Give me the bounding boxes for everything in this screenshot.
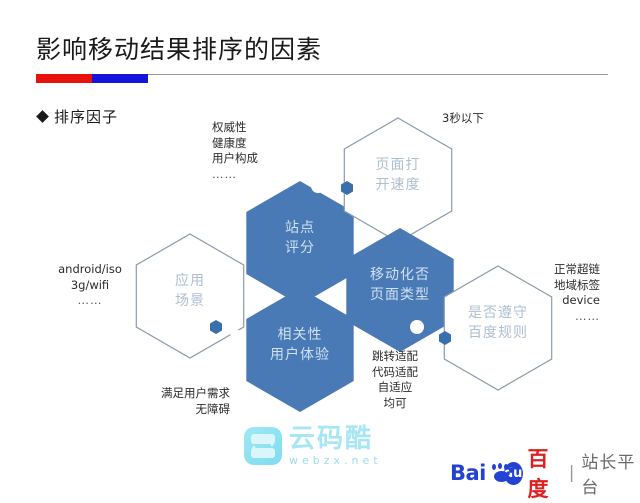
paw-icon: [491, 463, 509, 484]
annotation-site-score: 权威性 健康度 用户构成 ……: [212, 120, 258, 182]
watermark-icon-arrow-right: [269, 442, 275, 447]
connector-dot-relevance-ux: [230, 330, 244, 344]
watermark-text: 云码酷 webzx.net: [289, 426, 382, 466]
hexagon-shapes: [0, 0, 640, 480]
baidu-logo-cn: 百度: [528, 443, 562, 503]
connector-dot-site-score: [311, 179, 325, 193]
hexagon-mobile-pagetype-shape[interactable]: [346, 228, 453, 352]
annotation-app-scenario: android/iso 3g/wifi ……: [40, 262, 140, 309]
baidu-logo: Bai du 百度 | 站长平台: [450, 443, 640, 503]
hexagon-relevance-ux-shape[interactable]: [246, 288, 353, 412]
watermark-icon: [244, 427, 282, 465]
hexagon-diagram: 站点 评分 页面打 开速度 应用 场景 相关性 用户体验 移动化否 页面类型 是…: [0, 0, 640, 480]
hexagon-site-score-shape[interactable]: [246, 181, 353, 305]
footer-platform-label: 站长平台: [581, 448, 640, 498]
footer-separator: |: [569, 463, 575, 483]
watermark: 云码酷 webzx.net: [244, 426, 382, 466]
hexagon-app-scenario-shape[interactable]: [136, 234, 243, 358]
annotation-mobile-pagetype: 跳转适配 代码适配 自适应 均可: [358, 349, 432, 411]
baidu-logo-bai: Bai: [450, 461, 486, 485]
annotation-page-speed: 3秒以下: [442, 111, 484, 127]
watermark-url: webzx.net: [289, 455, 382, 466]
connector-dot-mobile-pagetype: [410, 320, 424, 334]
watermark-title: 云码酷: [289, 426, 382, 452]
slide-canvas: 影响移动结果排序的因素 排序因子: [0, 0, 640, 480]
annotation-baidu-rules: 正常超链 地域标签 device ……: [490, 262, 600, 324]
hexagon-page-speed-shape[interactable]: [344, 118, 451, 242]
annotation-relevance-ux: 满足用户需求 无障碍: [161, 386, 230, 417]
